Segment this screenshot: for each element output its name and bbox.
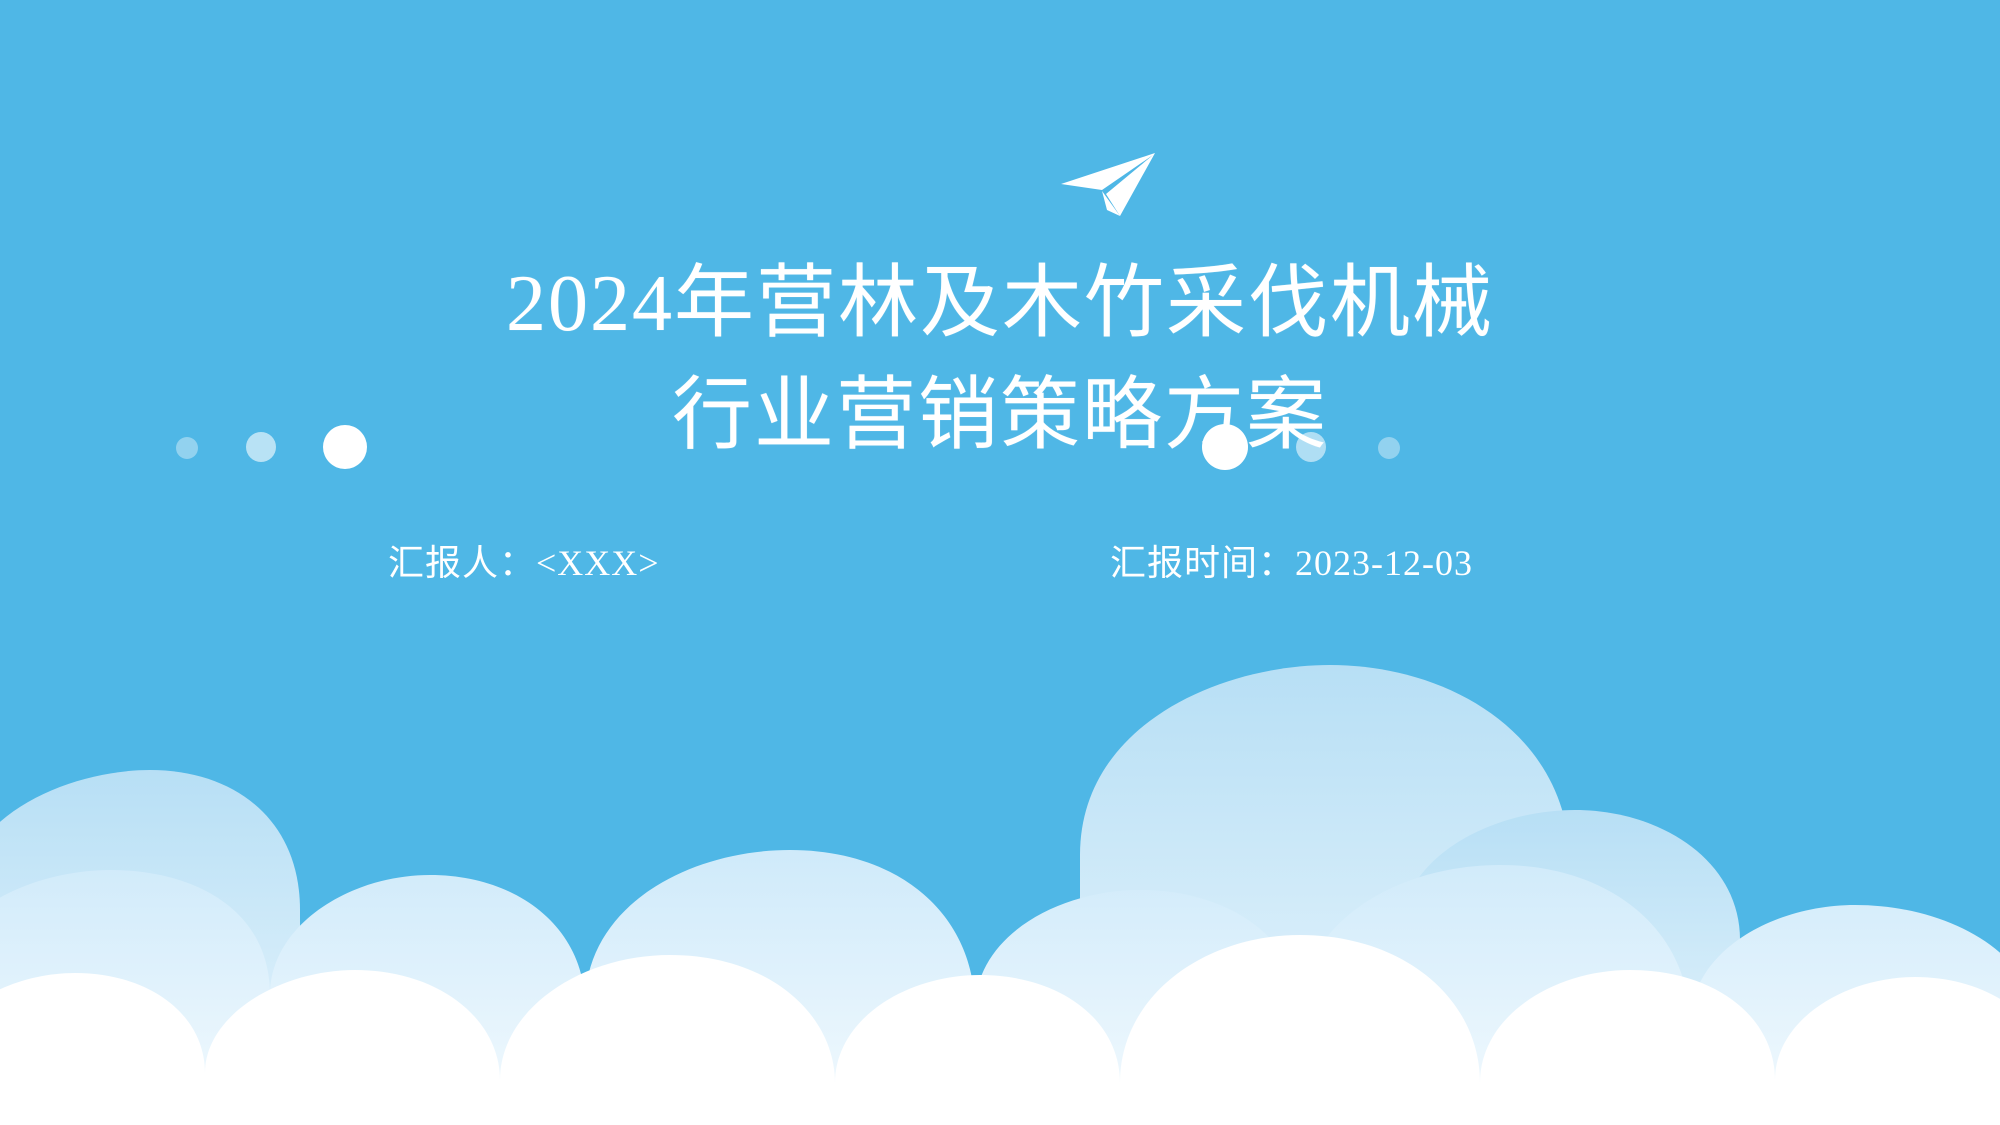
title-slide: 2024年营林及木竹采伐机械 行业营销策略方案 汇报人：<XXX> 汇报时间：2…: [0, 0, 2000, 1125]
title-line-1: 2024年营林及木竹采伐机械: [0, 248, 2000, 360]
cloud-decoration: [0, 605, 2000, 1125]
title-line-2: 行业营销策略方案: [0, 360, 2000, 472]
presenter-label: 汇报人：<XXX>: [388, 538, 660, 588]
report-date-label: 汇报时间：2023-12-03: [1110, 538, 1473, 588]
page-title: 2024年营林及木竹采伐机械 行业营销策略方案: [0, 248, 2000, 472]
paper-plane-icon: [1058, 150, 1158, 220]
